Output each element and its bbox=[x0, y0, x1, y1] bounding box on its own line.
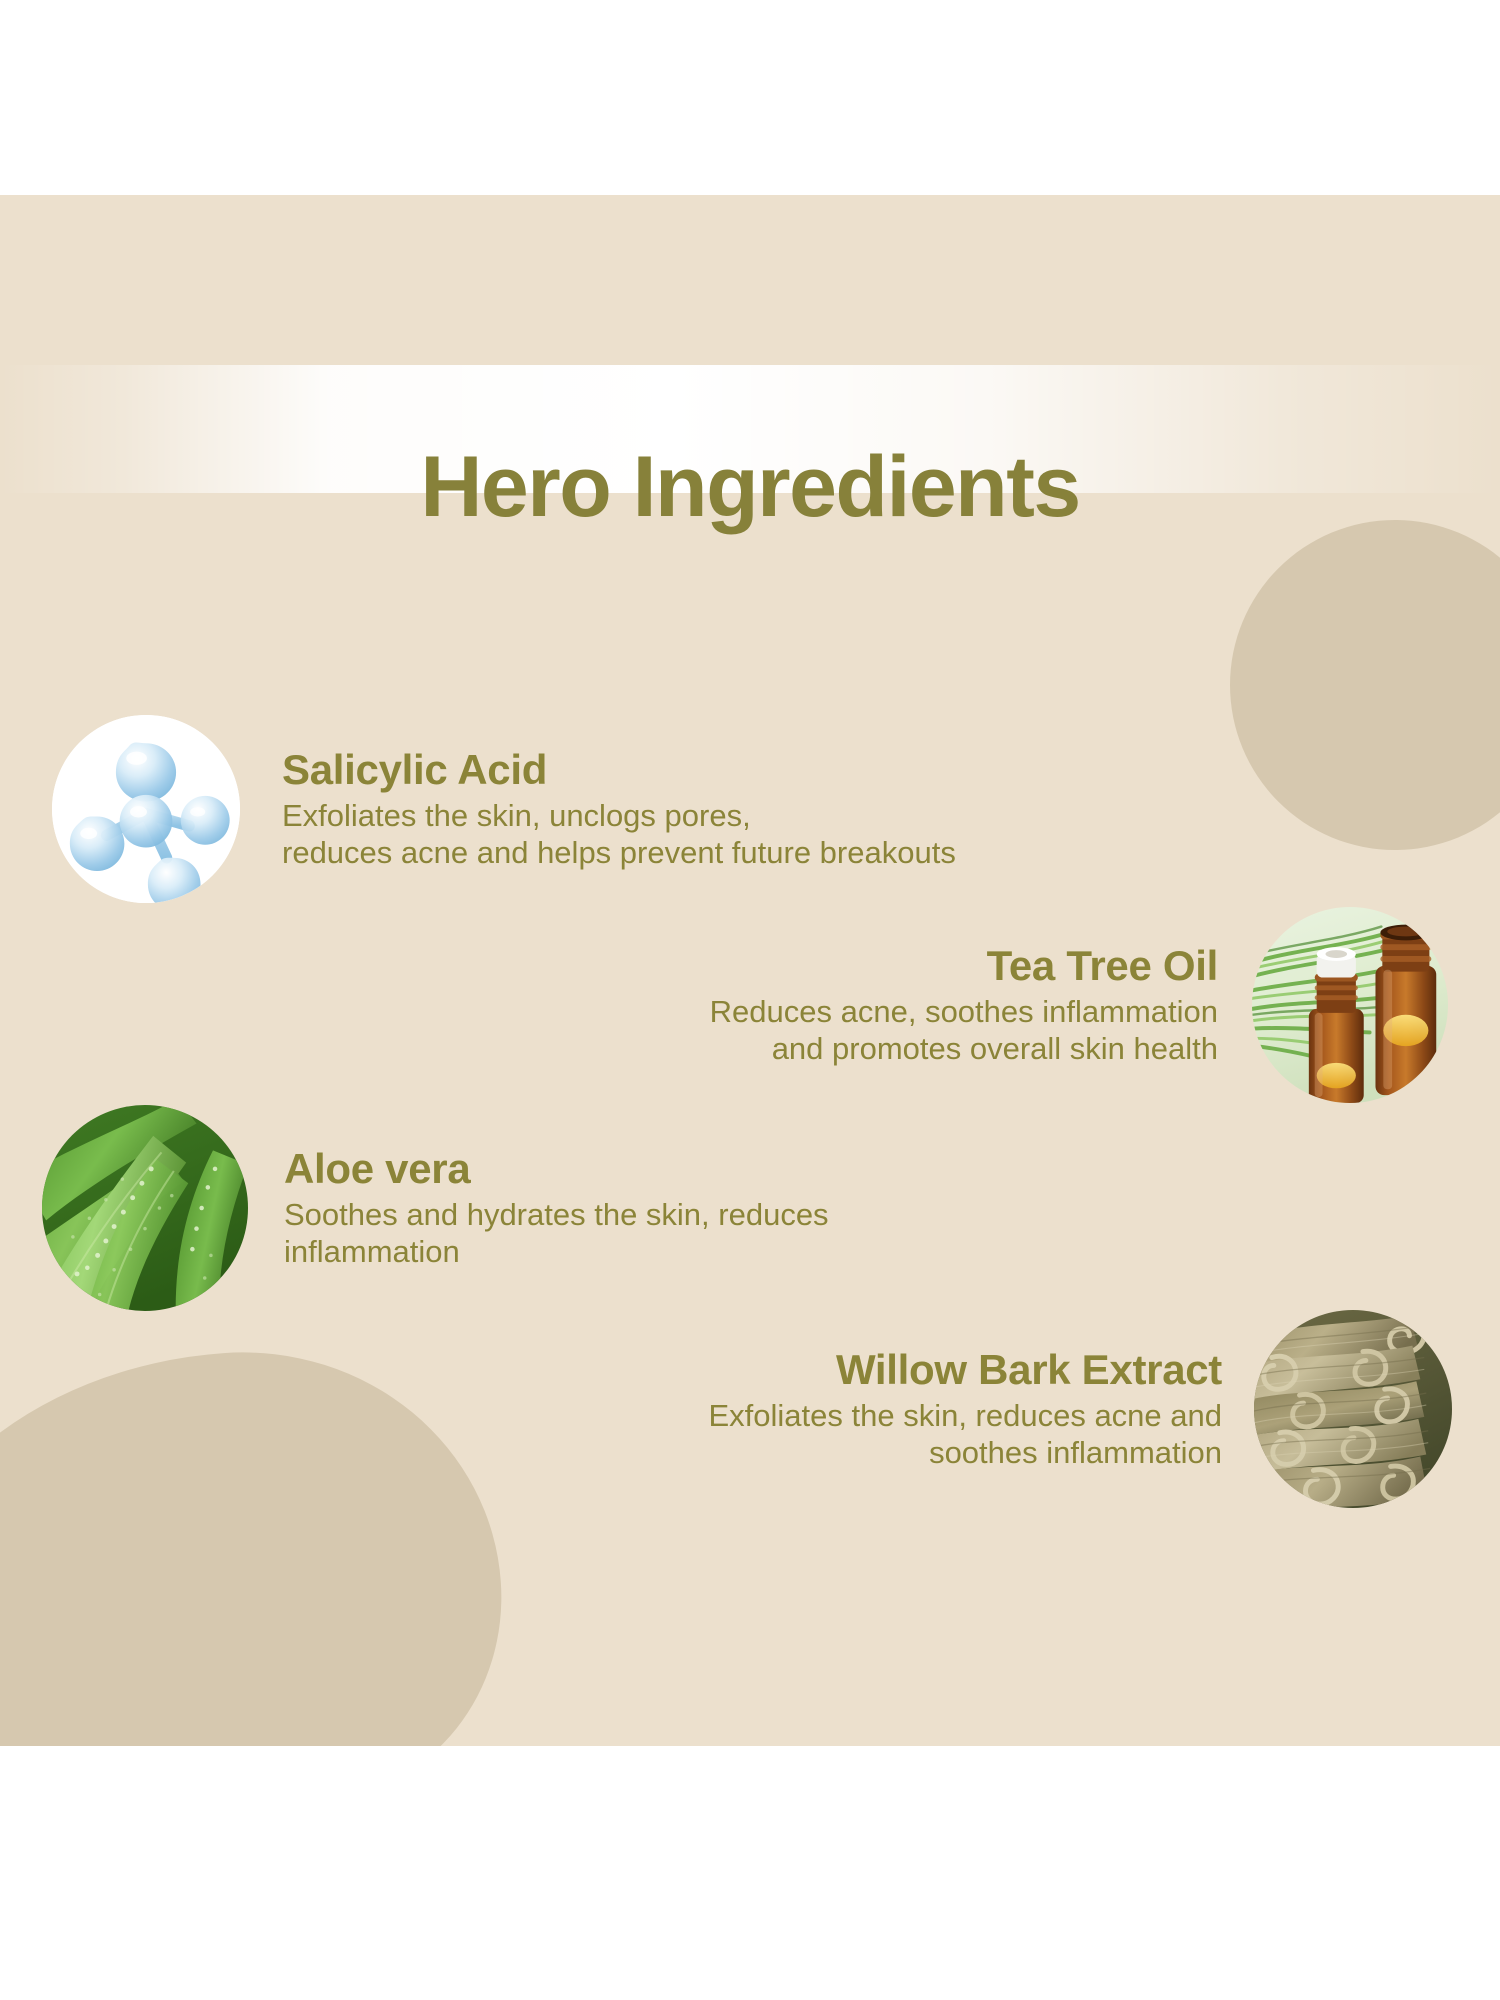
willow-bark-text: Willow Bark Extract Exfoliates the skin,… bbox=[312, 1346, 1222, 1471]
ingredient-row-aloe-vera: Aloe vera Soothes and hydrates the skin,… bbox=[42, 1105, 1142, 1311]
aloe-vera-leaves-image bbox=[42, 1105, 248, 1311]
decorative-blob-right bbox=[1230, 520, 1500, 850]
poster-canvas: Hero Ingredients bbox=[0, 0, 1500, 2000]
oil-bottles-icon bbox=[1252, 907, 1448, 1103]
ingredient-name: Willow Bark Extract bbox=[312, 1346, 1222, 1394]
page-title: Hero Ingredients bbox=[0, 425, 1500, 549]
ingredient-name: Tea Tree Oil bbox=[318, 942, 1218, 990]
ingredient-description: Soothes and hydrates the skin, reduces i… bbox=[284, 1197, 829, 1270]
tea-tree-oil-text: Tea Tree Oil Reduces acne, soothes infla… bbox=[318, 942, 1218, 1067]
ingredient-name: Salicylic Acid bbox=[282, 746, 956, 794]
aloe-vera-text: Aloe vera Soothes and hydrates the skin,… bbox=[284, 1145, 829, 1270]
ingredient-row-tea-tree-oil: Tea Tree Oil Reduces acne, soothes infla… bbox=[318, 907, 1448, 1103]
ingredient-description: Reduces acne, soothes inflammation and p… bbox=[318, 994, 1218, 1067]
ingredient-name: Aloe vera bbox=[284, 1145, 829, 1193]
willow-bark-extract-image bbox=[1254, 1310, 1452, 1508]
content-panel: Hero Ingredients bbox=[0, 195, 1500, 1746]
ingredient-row-willow-bark-extract: Willow Bark Extract Exfoliates the skin,… bbox=[312, 1310, 1452, 1508]
ingredient-row-salicylic-acid: Salicylic Acid Exfoliates the skin, uncl… bbox=[52, 715, 1102, 903]
salicylic-acid-molecule-image bbox=[52, 715, 240, 903]
aloe-leaves-icon bbox=[42, 1105, 248, 1311]
willow-bark-icon bbox=[1254, 1310, 1452, 1508]
salicylic-acid-text: Salicylic Acid Exfoliates the skin, uncl… bbox=[282, 746, 956, 871]
tea-tree-oil-bottles-image bbox=[1252, 907, 1448, 1103]
ingredient-description: Exfoliates the skin, reduces acne and so… bbox=[312, 1398, 1222, 1471]
ingredient-description: Exfoliates the skin, unclogs pores, redu… bbox=[282, 798, 956, 871]
molecule-icon bbox=[52, 715, 240, 903]
